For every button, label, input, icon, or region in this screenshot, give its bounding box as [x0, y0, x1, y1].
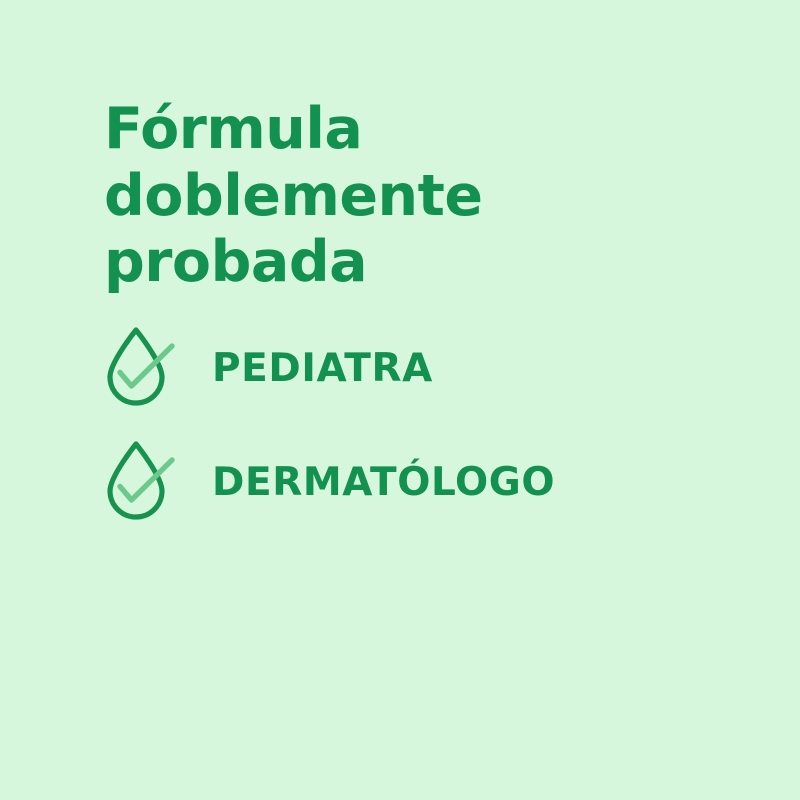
list-item: PEDIATRA — [100, 322, 740, 414]
list-item: DERMATÓLOGO — [100, 436, 740, 528]
claim-label: PEDIATRA — [212, 346, 433, 391]
droplet-check-icon — [100, 324, 180, 412]
claim-label: DERMATÓLOGO — [212, 460, 555, 505]
claims-list: PEDIATRA DERMATÓLOGO — [100, 322, 740, 550]
droplet-check-icon — [100, 438, 180, 526]
page-title: Fórmula doblemente probada — [104, 96, 744, 296]
product-claim-card: Fórmula doblemente probada PEDIATRA DERM… — [0, 0, 800, 800]
